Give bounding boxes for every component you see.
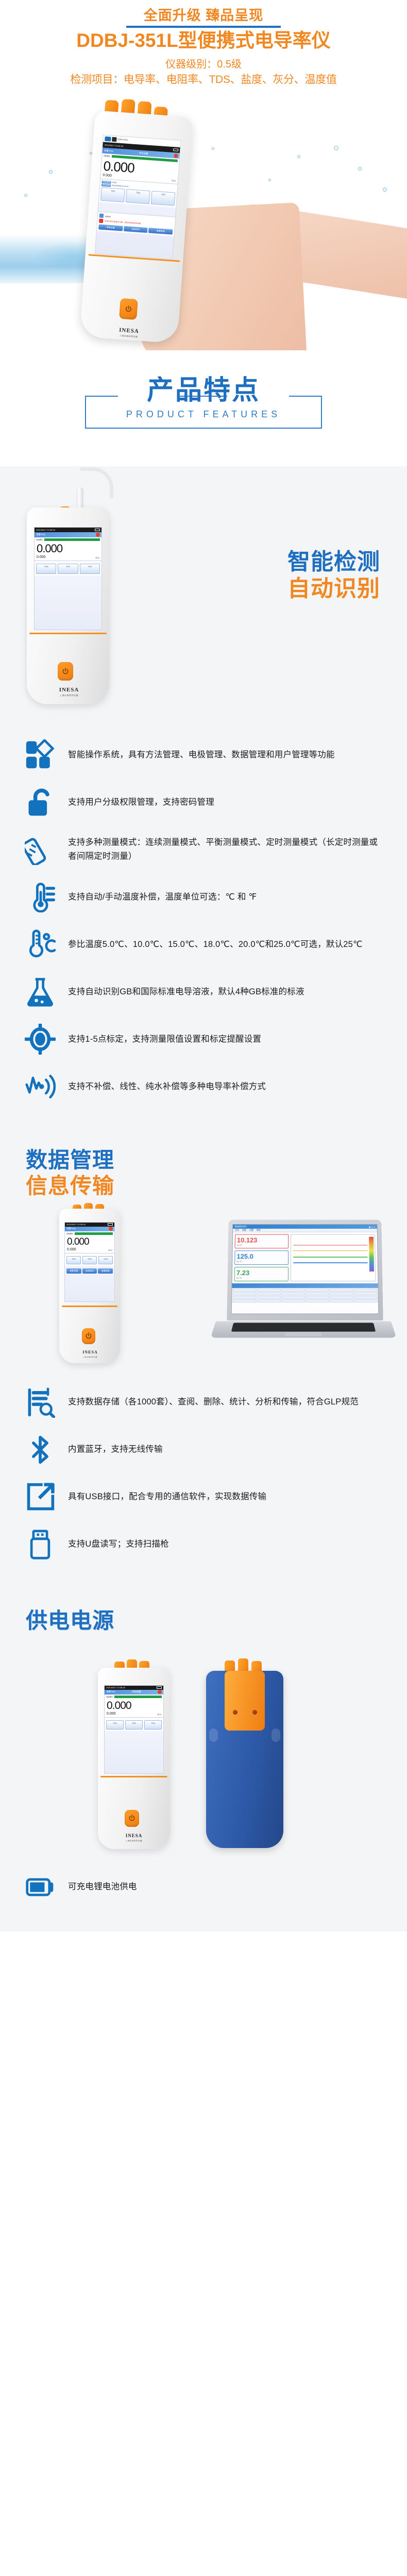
- feature-item: 内置蓝牙，支持无线传输: [0, 1426, 407, 1473]
- record-icon[interactable]: [109, 1227, 113, 1231]
- stable-label: Stable: [66, 1232, 73, 1235]
- hero-heading-group: 全面升级 臻品呈现 DDBJ-351L型便携式电导率仪 仪器级别：0.5级 检测…: [0, 0, 407, 87]
- record-icon[interactable]: [158, 1690, 162, 1694]
- feature-item: 具有USB接口，配合专用的通信软件，实现数据传输: [0, 1473, 407, 1521]
- screen-mode-label: 测量TDS: [104, 149, 113, 152]
- side-grip: [209, 1728, 218, 1742]
- standard-card[interactable]: TDS: [66, 1256, 81, 1264]
- secondary-reading: 0.000: [103, 174, 112, 178]
- thermometer-celsius-icon: [24, 928, 57, 961]
- bluetooth-icon: [24, 1433, 57, 1466]
- standard-card[interactable]: TDS: [82, 1256, 97, 1264]
- temperature-reading: 25.0: [95, 556, 99, 559]
- device-body: 2021/05/17 10:35:18 测量TDS Stable 0.000 0…: [27, 507, 109, 704]
- hero-section: 全面升级 臻品呈现 DDBJ-351L型便携式电导率仪 仪器级别：0.5级 检测…: [0, 0, 407, 350]
- waveform-signal-icon: [24, 1070, 57, 1103]
- feature-text: 支持自动/手动温度补偿，温度单位可选：℃ 和 ℉: [68, 890, 257, 904]
- device-with-probe: 2021/05/17 10:35:18 测量TDS Stable 0.000 0…: [27, 487, 117, 708]
- software-titlebar: 数据通讯软件▣ ▢ ✕: [233, 1225, 377, 1229]
- smart-detection-title: 智能检测 自动识别: [287, 549, 380, 602]
- power-photo: 2021/05/17 10:35:18 测量TDS 开始测量 Stable 0.…: [0, 1635, 407, 1856]
- standard-card[interactable]: TDS: [151, 191, 176, 206]
- screen-datetime: 2021/05/17 10:35:18: [106, 1686, 125, 1689]
- readings-panel: 10.123 24 ℃ 125.0 24 ℃ 7.23 24 ℃: [232, 1232, 291, 1283]
- hand-holding-device: DDBJ-351L 2021/05/17 10:35:18 测量TDS 开始测量: [0, 106, 407, 350]
- battery-icon: [24, 1871, 57, 1904]
- usb-drive-icon: [24, 1528, 57, 1561]
- temperature-reading: 25.0: [172, 179, 176, 182]
- feature-item: 支持1-5点标定，支持测量限值设置和标定提醒设置: [0, 1015, 407, 1063]
- hero-product-title: DDBJ-351L型便携式电导率仪: [0, 29, 407, 53]
- feature-item: 支持数据存储（各1000套）、查阅、删除、统计、分析和传输，符合GLP规范: [0, 1379, 407, 1426]
- reading-value: 125.0: [236, 1252, 286, 1259]
- calibrate-button[interactable]: 连续标定: [82, 1268, 97, 1274]
- screen-params-table: 电极常数 0.500 标定日期 2021/05/08 10:12:13 TDS …: [99, 178, 178, 207]
- hero-divider: [126, 26, 281, 28]
- ruler-icon: [24, 833, 57, 866]
- param-value: 0.500: [112, 181, 116, 184]
- reading-temp: 24 ℃: [237, 1244, 286, 1246]
- feature-item: 支持用户分级权限管理，支持密码管理: [0, 778, 407, 826]
- laptop-lid: 数据通讯软件▣ ▢ ✕ 文件视图设置帮助 10.123 24 ℃ 125.0: [227, 1219, 383, 1320]
- device-body: 2021/05/17 10:35:18 测量TDS Stable 0.000 0…: [59, 1209, 120, 1363]
- feature-list: 智能操作系统，具有方法管理、电极管理、数据管理和用户管理等功能 支持用户分级权限…: [0, 724, 407, 1124]
- power-button[interactable]: [58, 662, 73, 681]
- dm-title-line2: 信息传输: [26, 1173, 407, 1199]
- table-header: [232, 1283, 378, 1288]
- user-icon: [99, 213, 104, 218]
- product-detail-page: 全面升级 臻品呈现 DDBJ-351L型便携式电导率仪 仪器级别：0.5级 检测…: [0, 0, 407, 1931]
- stable-label: Stable: [104, 155, 110, 158]
- device-white: 2021/05/17 10:35:18 测量TDS 开始测量 Stable 0.…: [98, 1659, 174, 1850]
- device-blue-rear: [206, 1659, 289, 1850]
- power-title: 供电电源: [26, 1603, 407, 1635]
- power-icon: [128, 1814, 136, 1822]
- battery-icon: [157, 1686, 162, 1689]
- record-icon[interactable]: [96, 533, 100, 537]
- laptop-with-software: 数据通讯软件▣ ▢ ✕ 文件视图设置帮助 10.123 24 ℃ 125.0: [213, 1219, 394, 1348]
- smart-title-line2: 自动识别: [287, 575, 380, 602]
- device-screen: 2021/05/17 10:35:18 测量TDS 开始测量 Stable 0.…: [104, 1685, 164, 1774]
- standard-card[interactable]: TDS: [125, 1720, 143, 1730]
- table-row: [232, 1296, 378, 1299]
- battery-icon: [173, 148, 178, 151]
- flask-icon: [24, 975, 57, 1008]
- table-row: [232, 1289, 377, 1292]
- smart-detection-photo: 2021/05/17 10:35:18 测量TDS Stable 0.000 0…: [0, 466, 407, 724]
- brand-mark: INESA上海仪电科学仪器: [117, 1831, 150, 1842]
- standard-card[interactable]: TDS: [100, 188, 125, 202]
- feature-item: 支持不补偿、线性、纯水补偿等多种电导率补偿方式: [0, 1063, 407, 1110]
- side-grip: [272, 1728, 280, 1742]
- table-row: [232, 1299, 378, 1302]
- standard-card[interactable]: TDS: [58, 564, 78, 574]
- banner-title-cn: 产品特点: [85, 377, 322, 404]
- probe-cable: [80, 467, 113, 498]
- param-key: 标定日期: [101, 184, 111, 187]
- hero-tagline: 全面升级 臻品呈现: [144, 7, 264, 24]
- screen-mode-label: 测量TDS: [106, 1690, 115, 1693]
- standard-card[interactable]: TDS: [144, 1720, 162, 1730]
- reading-temp: 24 ℃: [236, 1260, 286, 1262]
- reading-temp: 24 ℃: [236, 1276, 286, 1279]
- software-window: 数据通讯软件▣ ▢ ✕ 文件视图设置帮助 10.123 24 ℃ 125.0: [231, 1224, 379, 1314]
- feature-text: 支持1-5点标定，支持测量限值设置和标定提醒设置: [68, 1032, 261, 1046]
- feature-text: 内置蓝牙，支持无线传输: [68, 1443, 163, 1456]
- standard-card[interactable]: TDS: [106, 1720, 124, 1730]
- feature-item: 智能操作系统，具有方法管理、电极管理、数据管理和用户管理等功能: [0, 731, 407, 778]
- data-table: [232, 1288, 378, 1303]
- feature-text: 参比温度5.0℃、10.0℃、15.0℃、18.0℃、20.0℃和25.0℃可选…: [68, 938, 363, 952]
- brand-mark: INESA上海仪电科学仪器: [50, 685, 88, 697]
- device-hero: DDBJ-351L 2021/05/17 10:35:18 测量TDS 开始测量: [79, 97, 202, 350]
- screen-mode-label: 测量TDS: [36, 533, 45, 536]
- reading-card: 125.0 24 ℃: [234, 1250, 289, 1265]
- blocks-diamond-icon: [24, 738, 57, 771]
- screw-icon: [233, 1710, 238, 1715]
- feature-text: 具有USB接口，配合专用的通信软件，实现数据传输: [68, 1490, 266, 1504]
- dm-title-line1: 数据管理: [26, 1147, 407, 1173]
- battery-clip: [225, 1671, 265, 1731]
- data-transfer-photo: 2021/05/17 10:35:18 测量TDS Stable 0.000 0…: [0, 1201, 407, 1371]
- screen-model: DDBJ-351L: [117, 139, 128, 142]
- view-data-button[interactable]: 查看数据: [148, 228, 173, 234]
- software-menubar: 文件视图设置帮助: [233, 1229, 377, 1232]
- feature-item: 参比温度5.0℃、10.0℃、15.0℃、18.0℃、20.0℃和25.0℃可选…: [0, 921, 407, 968]
- power-feature-list: 可充电锂电池供电: [0, 1856, 407, 1931]
- feature-item: 支持自动识别GB和国际标准电导溶液，默认4种GB标准的标液: [0, 968, 407, 1015]
- table-row: [232, 1292, 378, 1295]
- params-button[interactable]: 参数设置: [98, 224, 123, 231]
- unlock-icon: [24, 786, 57, 819]
- feature-text: 支持不补偿、线性、纯水补偿等多种电导率补偿方式: [68, 1080, 266, 1094]
- feature-item: 支持自动/手动温度补偿，温度单位可选：℃ 和 ℉: [0, 873, 407, 921]
- screen-datetime: 2021/05/17 10:35:18: [66, 1223, 86, 1226]
- trackpad[interactable]: [285, 1332, 322, 1336]
- device-screen: 2021/05/17 10:35:18 测量TDS Stable 0.000 0…: [34, 527, 102, 630]
- chart-panel: [291, 1234, 376, 1281]
- screen-datetime: 2021/05/17 10:35:18: [36, 529, 55, 531]
- temperature-reading: 25.0: [108, 1249, 112, 1251]
- device-body: DDBJ-351L 2021/05/17 10:35:18 测量TDS 开始测量: [79, 110, 193, 343]
- screw-icon: [252, 1710, 257, 1715]
- product-features-banner: 产品特点 PRODUCT FEATURES: [0, 350, 407, 466]
- feature-text: 智能操作系统，具有方法管理、电极管理、数据管理和用户管理等功能: [68, 748, 335, 762]
- reading-value: 10.123: [237, 1236, 286, 1243]
- secondary-reading: 0.000: [107, 1712, 116, 1716]
- screen-datetime: 2021/05/17 10:35:18: [104, 144, 123, 148]
- stable-label: Stable: [36, 538, 43, 541]
- device-screen: DDBJ-351L 2021/05/17 10:35:18 测量TDS 开始测量: [95, 135, 181, 260]
- laptop-base: [211, 1321, 397, 1337]
- hero-grade: 仪器级别：0.5级: [0, 57, 407, 72]
- power-button[interactable]: [82, 1328, 95, 1344]
- reading-value: 0.000: [37, 543, 99, 554]
- reading-value: 0.000: [107, 1700, 161, 1711]
- standard-card[interactable]: TDS: [80, 564, 100, 574]
- thermometer-icon: [24, 880, 57, 913]
- power-icon: [61, 667, 70, 675]
- calibrate-button[interactable]: 连续标定: [124, 226, 148, 233]
- battery-icon: [95, 529, 100, 531]
- secondary-reading: 0.000: [67, 1248, 76, 1251]
- software-body: 10.123 24 ℃ 125.0 24 ℃ 7.23 24 ℃: [232, 1232, 378, 1283]
- screen-footer: Admin 电极未标定或者已过期，请标定电极后再测量 参数设置 连续标定 查看数…: [97, 211, 175, 236]
- smart-detection-section: 2021/05/17 10:35:18 测量TDS Stable 0.000 0…: [0, 466, 407, 1124]
- warning-icon: [99, 218, 104, 223]
- reading-value: 0.000: [67, 1237, 112, 1247]
- data-management-heading: 数据管理 信息传输: [0, 1124, 407, 1201]
- screen-mode-label: 测量TDS: [66, 1227, 76, 1230]
- feature-text: 支持U盘读写；支持扫描枪: [68, 1537, 169, 1551]
- standard-card[interactable]: TDS: [36, 564, 56, 574]
- document-search-icon: [24, 1386, 57, 1419]
- feature-text: 支持数据存储（各1000套）、查阅、删除、统计、分析和传输，符合GLP规范: [68, 1395, 359, 1409]
- temperature-reading: 25.0: [157, 1713, 161, 1716]
- power-icon: [84, 1332, 93, 1340]
- power-button[interactable]: [125, 1810, 139, 1827]
- stable-label: Stable: [106, 1696, 113, 1698]
- device-photo: 2021/05/17 10:35:18 测量TDS Stable 0.000 0…: [59, 1205, 126, 1369]
- device-body: 2021/05/17 10:35:18 测量TDS 开始测量 Stable 0.…: [98, 1668, 170, 1849]
- secondary-reading: 0.000: [37, 555, 46, 559]
- feature-item: 支持多种测量模式：连续测量模式、平衡测量模式、定时测量模式（长定时测量或者间隔定…: [0, 826, 407, 873]
- smart-title-line1: 智能检测: [287, 549, 380, 575]
- standard-card[interactable]: TDS: [126, 189, 150, 204]
- keyboard[interactable]: [231, 1323, 376, 1331]
- power-icon: [124, 304, 133, 313]
- hero-items: 检测项目：电导率、电阻率、TDS、盐度、灰分、温度值: [0, 72, 407, 87]
- data-feature-list: 支持数据存储（各1000套）、查阅、删除、统计、分析和传输，符合GLP规范 内置…: [0, 1371, 407, 1582]
- chart-legend: [369, 1236, 374, 1271]
- lei-magnetic-logo-icon: [112, 137, 117, 142]
- brand-mark: INESA上海仪电科学仪器: [76, 1347, 105, 1358]
- record-icon[interactable]: [174, 154, 178, 158]
- feature-text: 可充电锂电池供电: [68, 1880, 137, 1894]
- warning-text: 电极未标定或者已过期，请标定电极后再测量: [105, 220, 141, 225]
- banner-title-en: PRODUCT FEATURES: [85, 409, 322, 420]
- feature-text: 支持用户分级权限管理，支持密码管理: [68, 795, 214, 809]
- device-body-blue: [206, 1671, 283, 1848]
- reading-value: 7.23: [236, 1269, 286, 1276]
- params-button[interactable]: 参数设置: [66, 1268, 81, 1274]
- view-data-button[interactable]: 查看数据: [98, 1268, 113, 1274]
- power-button[interactable]: [119, 298, 138, 320]
- brand-mark: INESA上海仪电科学仪器: [110, 324, 148, 339]
- feature-item: 支持U盘读写；支持扫描枪: [0, 1521, 407, 1568]
- feature-item: 可充电锂电池供电: [0, 1863, 407, 1911]
- reading-card: 10.123 24 ℃: [235, 1234, 289, 1248]
- screen-mode-action: 开始测量: [139, 151, 148, 155]
- power-supply-section: 供电电源 2021/05/17 10:35:18 测量TDS 开始测量: [0, 1582, 407, 1931]
- param-value: 2021/05/08 10:12:13: [112, 184, 128, 188]
- battery-icon: [108, 1223, 113, 1226]
- user-name: Admin: [105, 215, 111, 218]
- reading-card: 7.23 24 ℃: [234, 1267, 289, 1281]
- standard-card[interactable]: TDS: [98, 1256, 113, 1264]
- feature-text: 支持多种测量模式：连续测量模式、平衡测量模式、定时测量模式（长定时测量或者间隔定…: [68, 836, 384, 863]
- feature-text: 支持自动识别GB和国际标准电导溶液，默认4种GB标准的标液: [68, 985, 304, 999]
- data-management-section: 数据管理 信息传输 2021/05/17 10:35:18 测量TDS: [0, 1124, 407, 1582]
- power-heading: 供电电源: [0, 1582, 407, 1635]
- target-icon: [24, 1023, 57, 1056]
- screen-mode-action: 开始测量: [132, 1690, 141, 1693]
- device-screen: 2021/05/17 10:35:18 测量TDS Stable 0.000 0…: [64, 1222, 115, 1302]
- external-link-icon: [24, 1481, 57, 1514]
- inesa-logo-icon: [105, 137, 111, 142]
